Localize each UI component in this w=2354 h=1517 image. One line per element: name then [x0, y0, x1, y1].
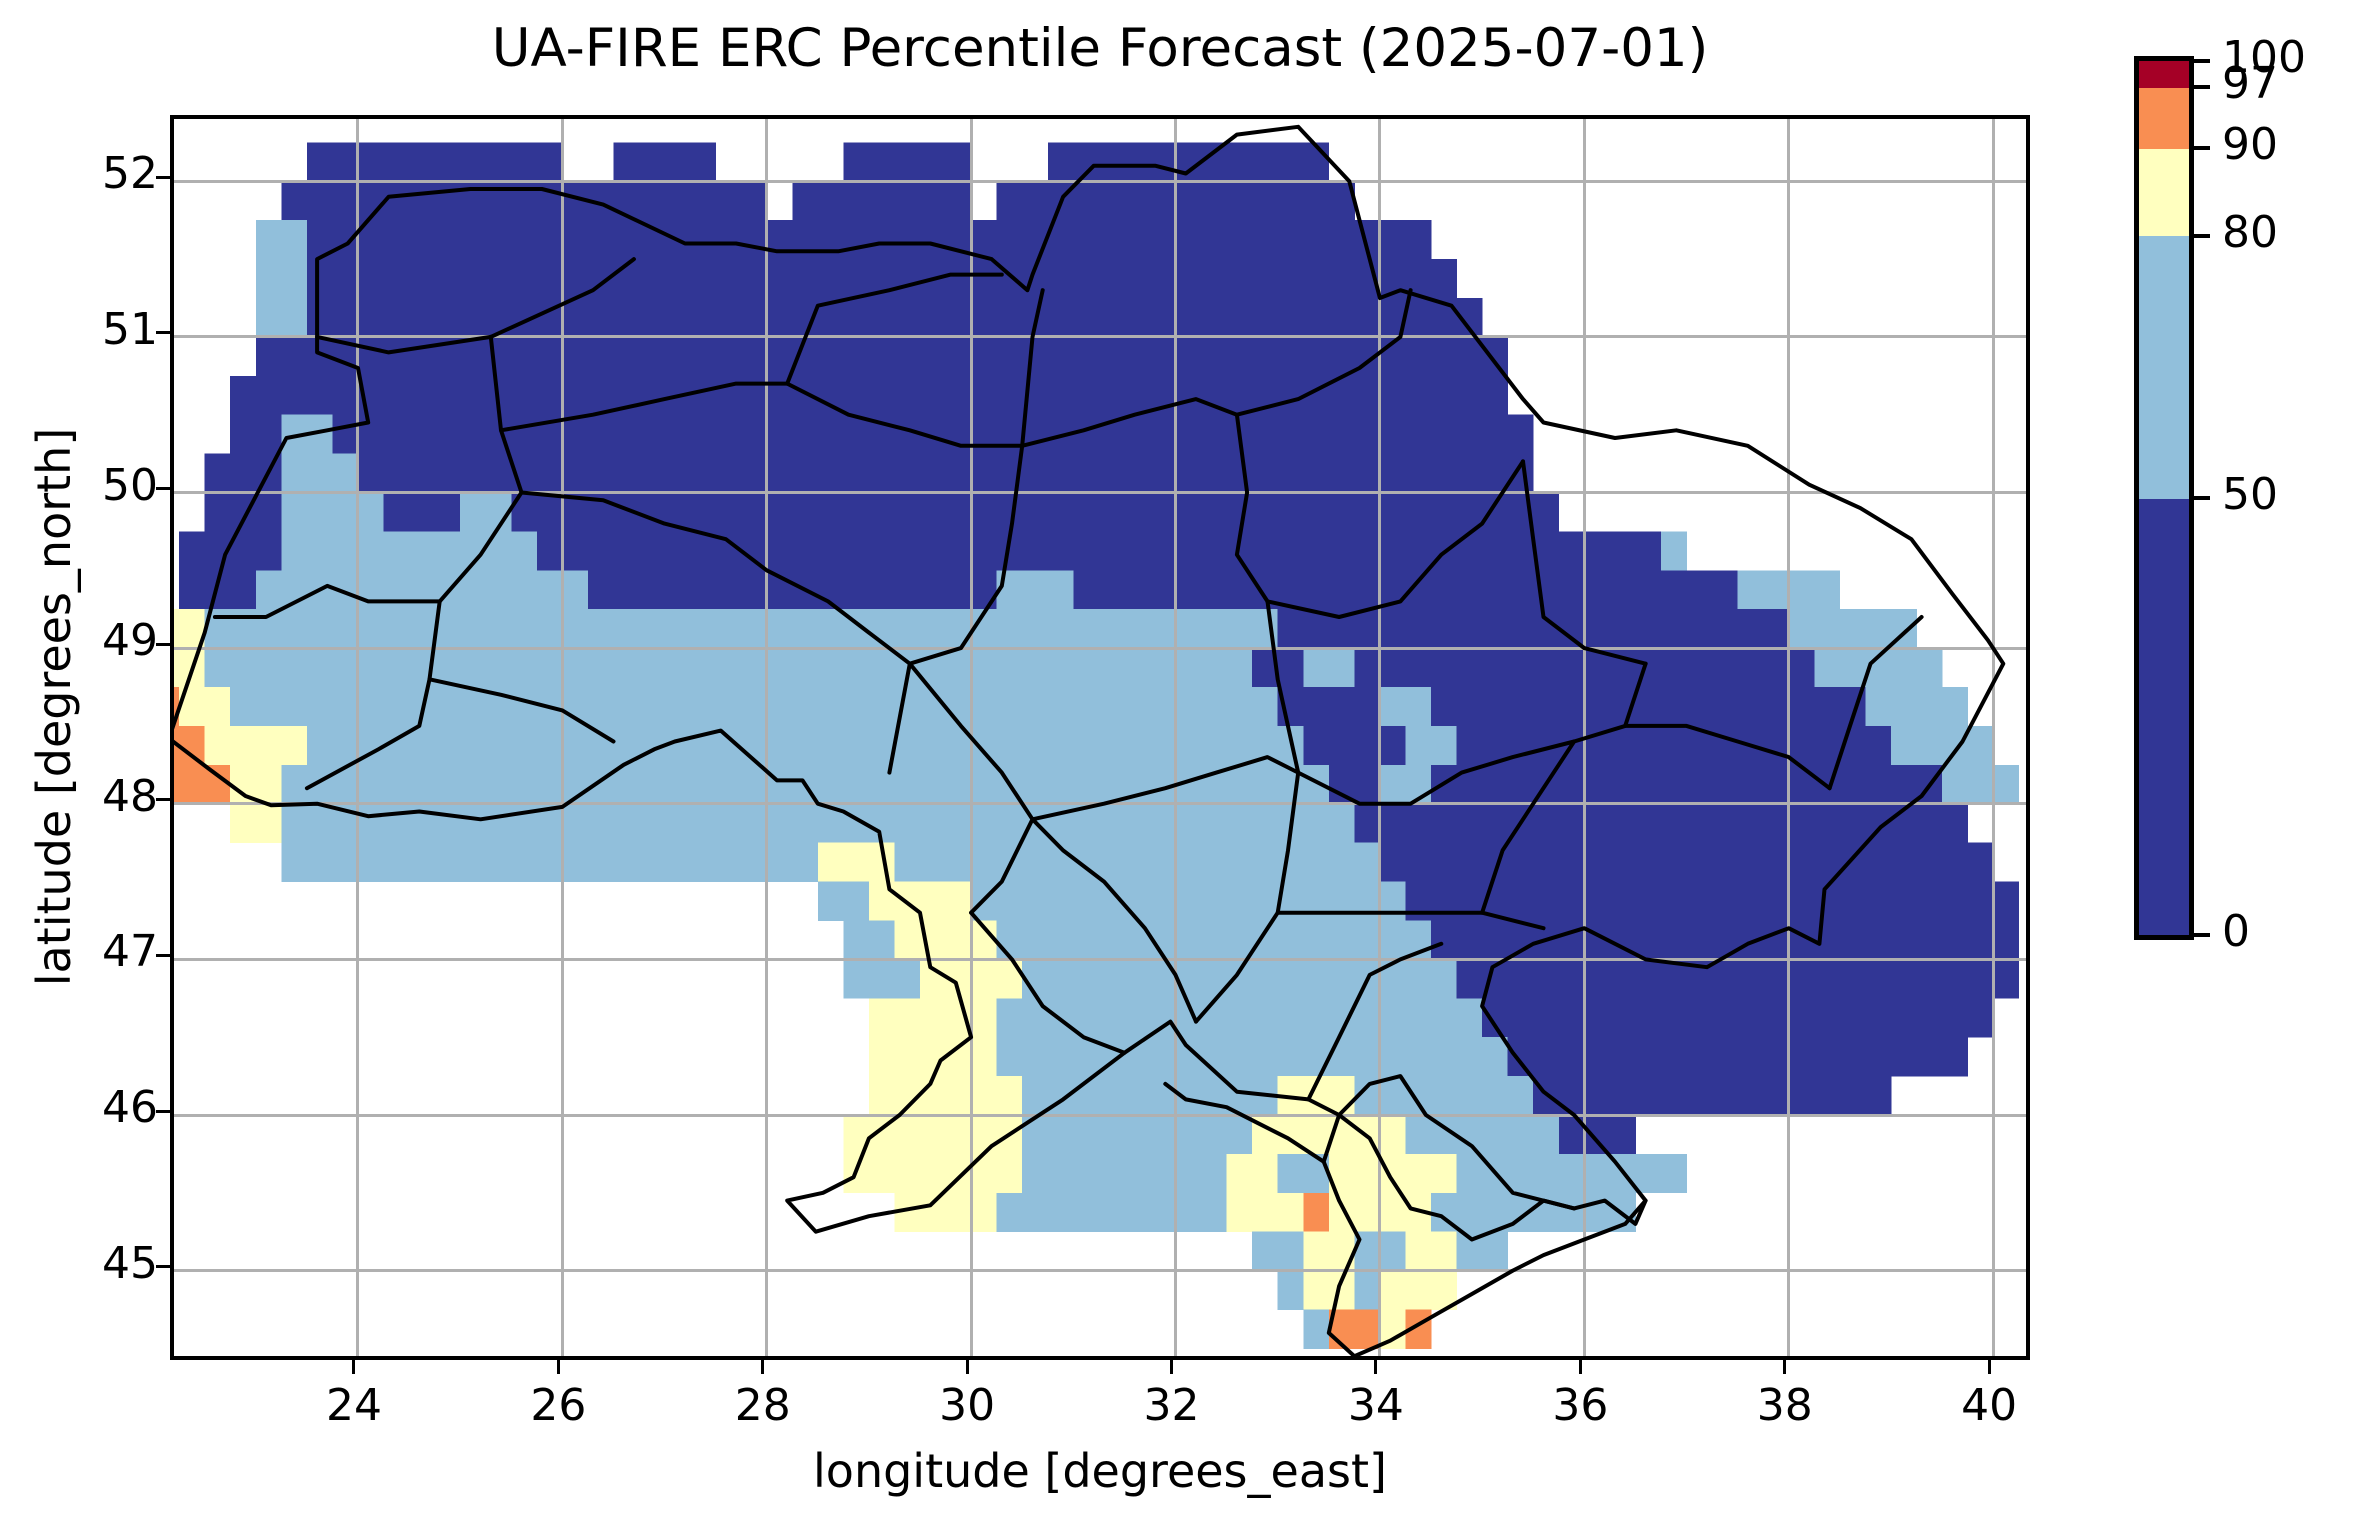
- y-tick: [156, 798, 170, 801]
- x-tick-label: 28: [693, 1380, 833, 1431]
- y-tick: [156, 176, 170, 179]
- border-path: [307, 601, 440, 788]
- y-axis-label: latitude [degrees_north]: [27, 327, 81, 1087]
- border-path: [1482, 742, 1574, 913]
- colorbar-tick: [2194, 146, 2210, 150]
- border-path: [215, 586, 440, 617]
- colorbar-tick-label: 80: [2222, 207, 2278, 258]
- y-tick-label: 52: [38, 148, 158, 199]
- colorbar-tick: [2194, 234, 2210, 238]
- y-tick: [156, 331, 170, 334]
- figure-canvas: UA-FIRE ERC Percentile Forecast (2025-07…: [0, 0, 2354, 1517]
- x-tick-label: 34: [1306, 1380, 1446, 1431]
- colorbar[interactable]: [2134, 56, 2194, 940]
- x-tick-label: 32: [1102, 1380, 1242, 1431]
- y-tick: [156, 487, 170, 490]
- border-path: [971, 913, 1124, 1053]
- colorbar-tick: [2194, 933, 2210, 937]
- x-tick: [557, 1360, 560, 1374]
- border-path: [1278, 913, 1544, 929]
- border-path: [1625, 726, 1829, 788]
- x-tick: [1988, 1360, 1991, 1374]
- y-tick: [156, 1110, 170, 1113]
- x-tick-label: 36: [1510, 1380, 1650, 1431]
- colorbar-tick-label: 100: [2222, 32, 2306, 83]
- border-path: [501, 384, 787, 431]
- border-path: [174, 127, 2003, 1232]
- border-path: [1022, 399, 1237, 446]
- border-path: [787, 275, 1002, 384]
- border-path: [1033, 757, 1299, 819]
- border-path: [1268, 461, 1524, 617]
- colorbar-tick-label: 50: [2222, 469, 2278, 520]
- x-tick: [761, 1360, 764, 1374]
- x-tick: [1579, 1360, 1582, 1374]
- border-path: [767, 570, 910, 772]
- border-path: [910, 446, 1022, 664]
- border-path: [1298, 726, 1625, 804]
- y-tick: [156, 1265, 170, 1268]
- x-tick-label: 30: [897, 1380, 1037, 1431]
- border-path: [1268, 601, 1299, 772]
- border-path: [317, 259, 634, 352]
- colorbar-segment-90-97: [2139, 87, 2189, 149]
- x-tick-label: 38: [1715, 1380, 1855, 1431]
- colorbar-segment-97-100: [2139, 61, 2189, 88]
- y-tick-label: 45: [38, 1238, 158, 1289]
- border-path: [1196, 773, 1298, 1022]
- y-tick: [156, 954, 170, 957]
- x-tick: [966, 1360, 969, 1374]
- colorbar-tick-label: 90: [2222, 119, 2278, 170]
- colorbar-segment-50-80: [2139, 236, 2189, 499]
- colorbar-tick: [2194, 496, 2210, 500]
- border-path: [1033, 819, 1197, 1021]
- x-tick: [1783, 1360, 1786, 1374]
- border-path: [522, 493, 767, 571]
- country-and-oblast-borders: [174, 119, 2030, 1360]
- x-axis-label: longitude [degrees_east]: [170, 1444, 2030, 1498]
- y-tick-label: 46: [38, 1082, 158, 1133]
- x-tick-label: 40: [1919, 1380, 2059, 1431]
- border-path: [1523, 461, 1646, 663]
- border-path: [1237, 415, 1268, 602]
- x-tick: [1374, 1360, 1377, 1374]
- page-title: UA-FIRE ERC Percentile Forecast (2025-07…: [170, 18, 2030, 79]
- border-path: [1237, 290, 1411, 415]
- border-path: [1830, 617, 1922, 788]
- colorbar-tick: [2194, 85, 2210, 89]
- x-tick: [1170, 1360, 1173, 1374]
- border-path: [910, 664, 1033, 913]
- border-path: [440, 337, 522, 602]
- border-path: [430, 679, 614, 741]
- map-axes[interactable]: [170, 115, 2030, 1360]
- x-tick-label: 24: [284, 1380, 424, 1431]
- colorbar-tick-label: 0: [2222, 906, 2250, 957]
- colorbar-segment-0-50: [2139, 498, 2189, 936]
- border-path: [1165, 1084, 1323, 1162]
- colorbar-tick: [2194, 59, 2210, 63]
- border-path: [1022, 290, 1042, 446]
- border-path: [1308, 944, 1441, 1100]
- border-path: [787, 384, 1022, 446]
- y-tick: [156, 643, 170, 646]
- x-tick: [352, 1360, 355, 1374]
- x-tick-label: 26: [488, 1380, 628, 1431]
- colorbar-segment-80-90: [2139, 148, 2189, 236]
- border-path: [1625, 664, 1645, 726]
- admin-borders-layer: [174, 119, 2026, 1356]
